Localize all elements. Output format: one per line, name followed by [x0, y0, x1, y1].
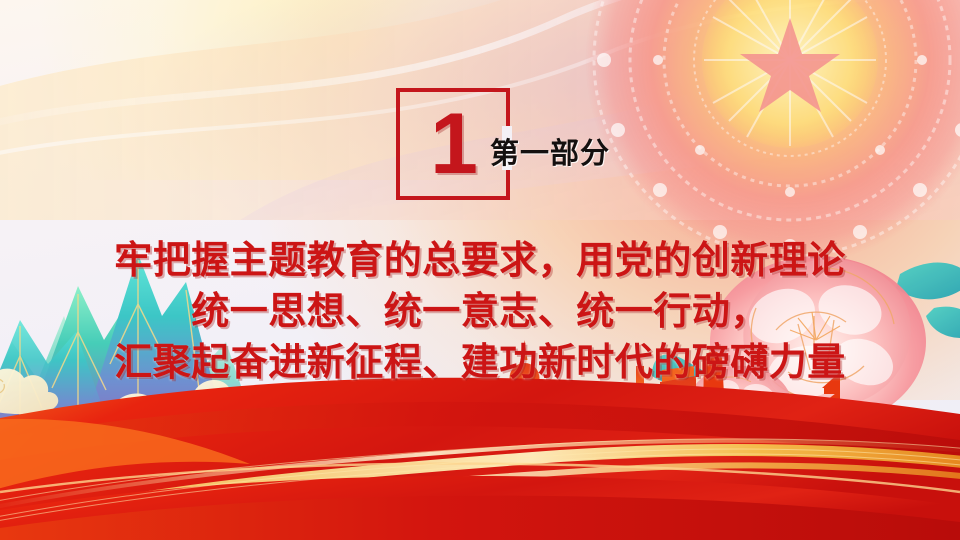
- headline-line-2: 统一思想、统一意志、统一行动，: [0, 287, 960, 338]
- headline-line-3: 汇聚起奋进新征程、建功新时代的磅礴力量: [0, 338, 960, 389]
- slide-headline: 牢把握主题教育的总要求，用党的创新理论 统一思想、统一意志、统一行动， 汇聚起奋…: [0, 236, 960, 389]
- chapter-marker: 1 第一部分: [0, 78, 960, 208]
- presentation-slide: 1 第一部分 牢把握主题教育的总要求，用党的创新理论 统一思想、统一意志、统一行…: [0, 0, 960, 540]
- chapter-label: 第一部分: [490, 130, 610, 172]
- headline-line-1: 牢把握主题教育的总要求，用党的创新理论: [0, 236, 960, 287]
- slide-content: 1 第一部分 牢把握主题教育的总要求，用党的创新理论 统一思想、统一意志、统一行…: [0, 0, 960, 540]
